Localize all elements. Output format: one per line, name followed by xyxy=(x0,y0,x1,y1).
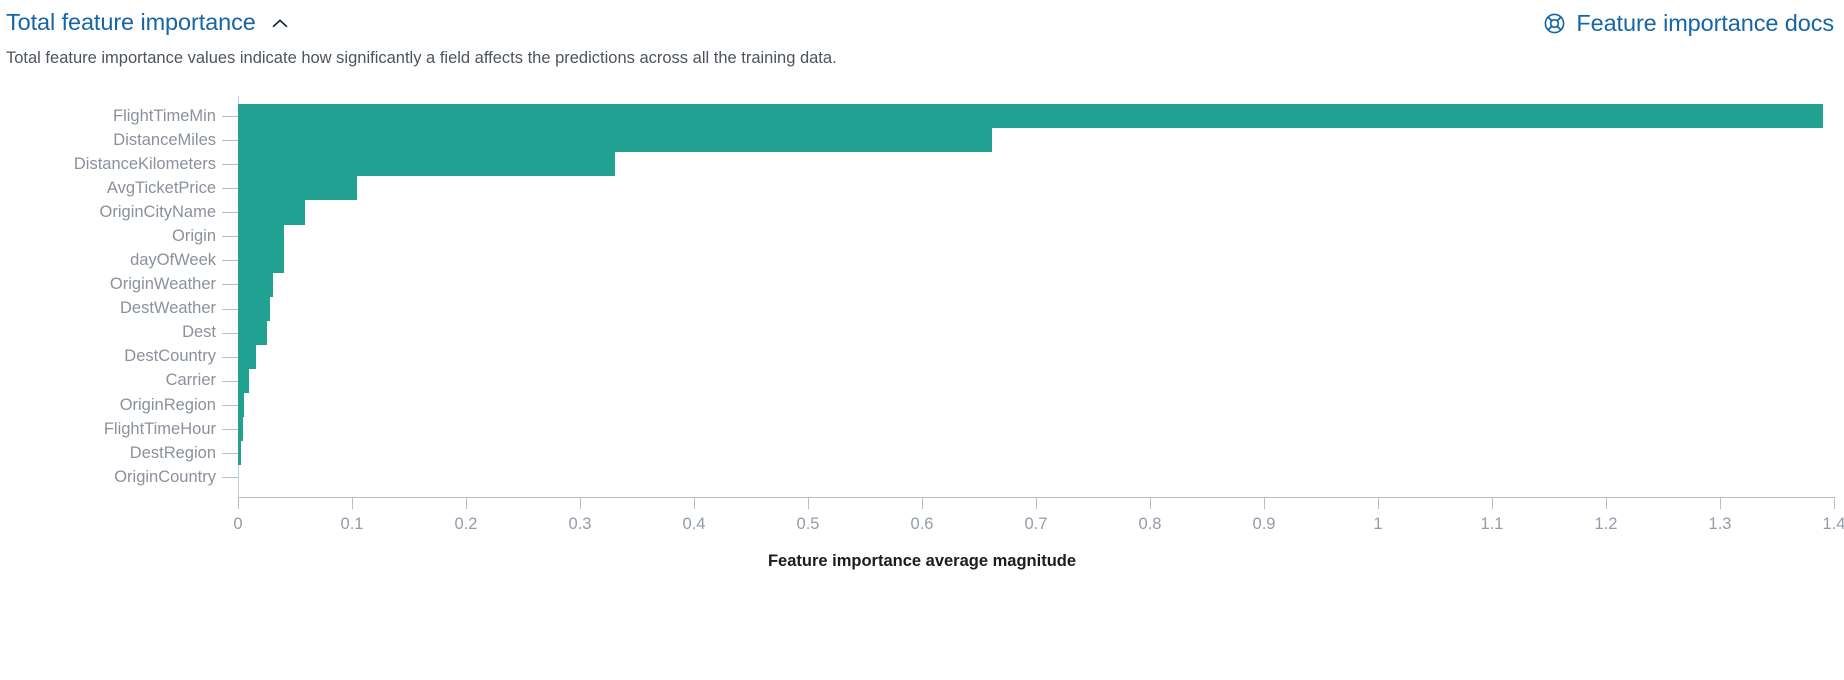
x-axis-tick-label: 0.7 xyxy=(1025,515,1048,534)
x-axis-tick-label: 0 xyxy=(233,515,242,534)
bar[interactable] xyxy=(238,272,273,297)
bar[interactable] xyxy=(238,176,357,201)
x-axis-tick-label: 0.8 xyxy=(1139,515,1162,534)
y-axis-tick xyxy=(222,477,238,478)
x-axis-tick xyxy=(466,497,467,509)
y-axis-label: OriginRegion xyxy=(0,393,216,418)
y-axis-label: DistanceKilometers xyxy=(0,152,216,177)
y-axis-label: OriginCityName xyxy=(0,200,216,225)
x-axis-tick-label: 1.1 xyxy=(1481,515,1504,534)
bar[interactable] xyxy=(238,320,267,345)
y-axis-label: DestCountry xyxy=(0,344,216,369)
bar[interactable] xyxy=(238,104,1823,129)
x-axis-tick-label: 0.4 xyxy=(683,515,706,534)
bar-row[interactable] xyxy=(238,152,1834,177)
page-title: Total feature importance xyxy=(6,11,256,35)
x-axis-tick xyxy=(1036,497,1037,509)
y-axis-tick xyxy=(222,284,238,285)
bar-row[interactable] xyxy=(238,104,1834,129)
chevron-up-icon[interactable] xyxy=(269,13,291,35)
bar-row[interactable] xyxy=(238,465,1834,490)
x-axis-tick-label: 0.9 xyxy=(1253,515,1276,534)
bar-row[interactable] xyxy=(238,296,1834,321)
y-axis-label: AvgTicketPrice xyxy=(0,176,216,201)
y-axis-tick xyxy=(222,236,238,237)
x-axis-tick xyxy=(352,497,353,509)
x-axis-title: Feature importance average magnitude xyxy=(0,552,1844,571)
x-axis-tick-label: 0.1 xyxy=(341,515,364,534)
y-axis-label: Origin xyxy=(0,224,216,249)
y-axis-tick xyxy=(222,405,238,406)
bar[interactable] xyxy=(238,296,270,321)
docs-link-label: Feature importance docs xyxy=(1576,10,1834,37)
bar-row[interactable] xyxy=(238,224,1834,249)
bar-row[interactable] xyxy=(238,417,1834,442)
y-axis-label: DestRegion xyxy=(0,441,216,466)
y-axis-tick xyxy=(222,453,238,454)
y-axis-label: FlightTimeHour xyxy=(0,417,216,442)
x-axis-tick xyxy=(1492,497,1493,509)
y-axis-label: DistanceMiles xyxy=(0,128,216,153)
bar[interactable] xyxy=(238,152,615,177)
y-axis-tick xyxy=(222,164,238,165)
bar[interactable] xyxy=(238,393,244,418)
bar-row[interactable] xyxy=(238,176,1834,201)
y-axis-tick xyxy=(222,212,238,213)
y-axis-label: OriginWeather xyxy=(0,272,216,297)
bar-row[interactable] xyxy=(238,128,1834,153)
bar-row[interactable] xyxy=(238,344,1834,369)
bar[interactable] xyxy=(238,417,243,442)
bar[interactable] xyxy=(238,248,284,273)
bar-row[interactable] xyxy=(238,441,1834,466)
bar[interactable] xyxy=(238,128,992,153)
x-axis-tick xyxy=(1264,497,1265,509)
feature-importance-chart: FlightTimeMinDistanceMilesDistanceKilome… xyxy=(0,96,1844,680)
bar-row[interactable] xyxy=(238,393,1834,418)
x-axis-tick-label: 1.3 xyxy=(1709,515,1732,534)
y-axis-tick xyxy=(222,116,238,117)
x-axis-tick xyxy=(580,497,581,509)
total-feature-importance-toggle[interactable]: Total feature importance xyxy=(6,11,291,35)
x-axis-tick-label: 0.2 xyxy=(455,515,478,534)
y-axis-tick xyxy=(222,429,238,430)
x-axis-tick xyxy=(808,497,809,509)
x-axis-tick-label: 0.3 xyxy=(569,515,592,534)
bar-row[interactable] xyxy=(238,200,1834,225)
x-axis-tick-label: 1.4 xyxy=(1823,515,1844,534)
help-lifebuoy-icon xyxy=(1543,12,1566,35)
bar[interactable] xyxy=(238,441,241,466)
y-axis-tick xyxy=(222,357,238,358)
x-axis-tick xyxy=(694,497,695,509)
x-axis-tick xyxy=(238,497,239,509)
bar[interactable] xyxy=(238,224,284,249)
bar-row[interactable] xyxy=(238,248,1834,273)
x-axis-tick xyxy=(1606,497,1607,509)
x-axis-tick-label: 0.6 xyxy=(911,515,934,534)
bar[interactable] xyxy=(238,344,256,369)
panel-header: Total feature importance Feature importa… xyxy=(0,0,1844,46)
bar[interactable] xyxy=(238,368,249,393)
y-axis-tick xyxy=(222,381,238,382)
y-axis-label: dayOfWeek xyxy=(0,248,216,273)
y-axis-label: OriginCountry xyxy=(0,465,216,490)
x-axis-tick xyxy=(1834,497,1835,509)
y-axis-label: Carrier xyxy=(0,368,216,393)
x-axis-tick-label: 0.5 xyxy=(797,515,820,534)
feature-importance-docs-link[interactable]: Feature importance docs xyxy=(1543,10,1834,37)
x-axis-tick-label: 1.2 xyxy=(1595,515,1618,534)
bar-row[interactable] xyxy=(238,368,1834,393)
x-axis-tick-label: 1 xyxy=(1373,515,1382,534)
y-axis-tick xyxy=(222,333,238,334)
y-axis-label: Dest xyxy=(0,320,216,345)
y-axis-tick xyxy=(222,188,238,189)
bar-row[interactable] xyxy=(238,320,1834,345)
y-axis-label: FlightTimeMin xyxy=(0,104,216,129)
y-axis-label: DestWeather xyxy=(0,296,216,321)
y-axis-tick xyxy=(222,260,238,261)
x-axis-tick xyxy=(1720,497,1721,509)
bar-row[interactable] xyxy=(238,272,1834,297)
y-axis-tick xyxy=(222,309,238,310)
panel-description: Total feature importance values indicate… xyxy=(6,47,837,69)
x-axis-tick xyxy=(1150,497,1151,509)
y-axis-tick xyxy=(222,140,238,141)
bar[interactable] xyxy=(238,200,305,225)
x-axis-tick xyxy=(1378,497,1379,509)
x-axis-tick xyxy=(922,497,923,509)
